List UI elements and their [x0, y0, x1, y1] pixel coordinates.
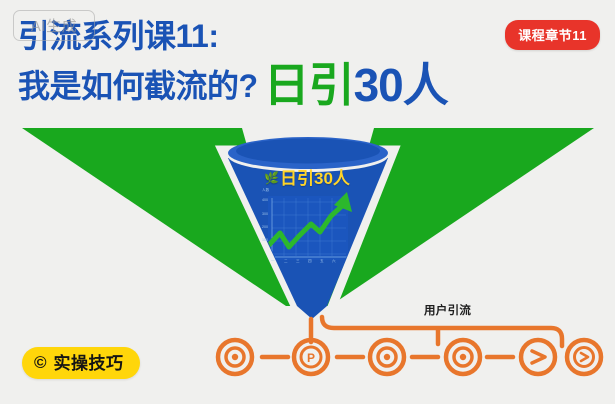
flow-node-letter-p: P — [294, 340, 328, 374]
chapter-badge[interactable]: 课程章节11 — [505, 20, 600, 50]
headline-line-1: 引流系列课11: — [18, 18, 448, 56]
flow-node-target-3 — [370, 340, 404, 374]
copyright-icon: © — [34, 354, 47, 371]
flow-node-play-6 — [567, 340, 601, 374]
funnel-mini-chart — [268, 192, 352, 260]
poster-canvas: 🌿日引30人 人数 400 300 200 100 一 二 三 四 五 六 引流… — [0, 0, 615, 404]
flow-node-target-1 — [218, 340, 252, 374]
funnel-rim — [228, 137, 388, 172]
headline-highlight-green: 日引 — [264, 59, 354, 111]
funnel-graphic: 🌿日引30人 人数 400 300 200 100 一 二 三 四 五 六 — [0, 120, 615, 325]
flow-node-play-5 — [521, 340, 555, 374]
tips-badge-label: 实操技巧 — [54, 355, 124, 372]
flow-node-target-4 — [446, 340, 480, 374]
flow-bracket — [322, 317, 562, 346]
tips-badge[interactable]: © 实操技巧 — [22, 347, 140, 379]
headline-highlight: 日引30人 — [264, 62, 448, 108]
headline-line-2: 我是如何截流的? — [18, 68, 258, 106]
headline-block: 引流系列课11: 我是如何截流的? 日引30人 — [18, 18, 448, 106]
svg-text:P: P — [307, 351, 315, 365]
flow-connector-label: 用户引流 — [424, 302, 471, 318]
headline-highlight-blue: 30人 — [354, 59, 448, 111]
